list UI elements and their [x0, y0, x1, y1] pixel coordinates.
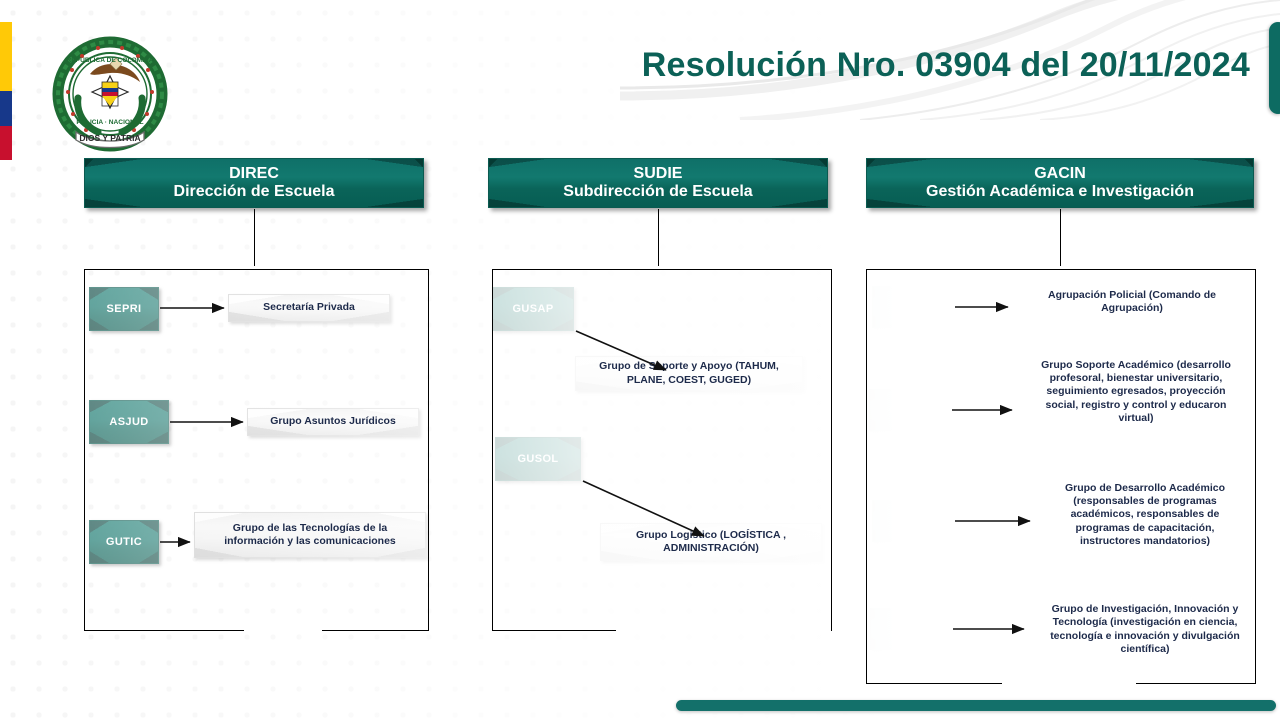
- panel-sudie: [492, 269, 832, 631]
- page-title: Resolución Nro. 03904 del 20/11/2024: [520, 46, 1250, 85]
- flag-band-red: [0, 126, 12, 161]
- panel-bottom-left-edge: [866, 683, 1002, 684]
- panel-bottom-right-edge: [322, 630, 429, 631]
- column-code: GACIN: [1034, 165, 1086, 183]
- column-sudie: SUDIE Subdirección de Escuela: [488, 158, 828, 208]
- connector-stem-direc: [254, 209, 255, 266]
- bottom-accent-bar: [676, 700, 1276, 711]
- column-header-direc[interactable]: DIREC Dirección de Escuela: [84, 158, 424, 208]
- flag-band-blue: [0, 91, 12, 126]
- svg-text:DIOS Y PATRIA: DIOS Y PATRIA: [79, 133, 140, 143]
- flag-band-yellow: [0, 22, 12, 91]
- panel-direc: [84, 269, 429, 631]
- panel-bottom-left-edge: [492, 630, 616, 631]
- column-header-gacin[interactable]: GACIN Gestión Académica e Investigación: [866, 158, 1254, 208]
- colombia-flag-stripe: [0, 22, 12, 160]
- panel-bottom-left-edge: [84, 630, 244, 631]
- column-name: Subdirección de Escuela: [563, 183, 752, 201]
- police-emblem-icon: DIOS Y PATRIA REPUBLICA DE COLOMBIA POLI…: [48, 36, 172, 156]
- connector-stem-gacin: [1060, 209, 1061, 266]
- column-code: DIREC: [229, 165, 279, 183]
- panel-bottom-right-edge: [1136, 683, 1256, 684]
- column-direc: DIREC Dirección de Escuela: [84, 158, 424, 208]
- column-name: Gestión Académica e Investigación: [926, 183, 1194, 201]
- column-name: Dirección de Escuela: [174, 183, 335, 201]
- column-gacin: GACIN Gestión Académica e Investigación: [866, 158, 1254, 208]
- svg-text:REPUBLICA DE COLOMBIA: REPUBLICA DE COLOMBIA: [67, 57, 154, 64]
- column-header-sudie[interactable]: SUDIE Subdirección de Escuela: [488, 158, 828, 208]
- panel-gacin: [866, 269, 1256, 684]
- column-code: SUDIE: [634, 165, 683, 183]
- svg-text:POLICIA · NACIONAL: POLICIA · NACIONAL: [76, 119, 143, 126]
- connector-stem-sudie: [658, 209, 659, 266]
- right-accent-pill: [1269, 22, 1280, 114]
